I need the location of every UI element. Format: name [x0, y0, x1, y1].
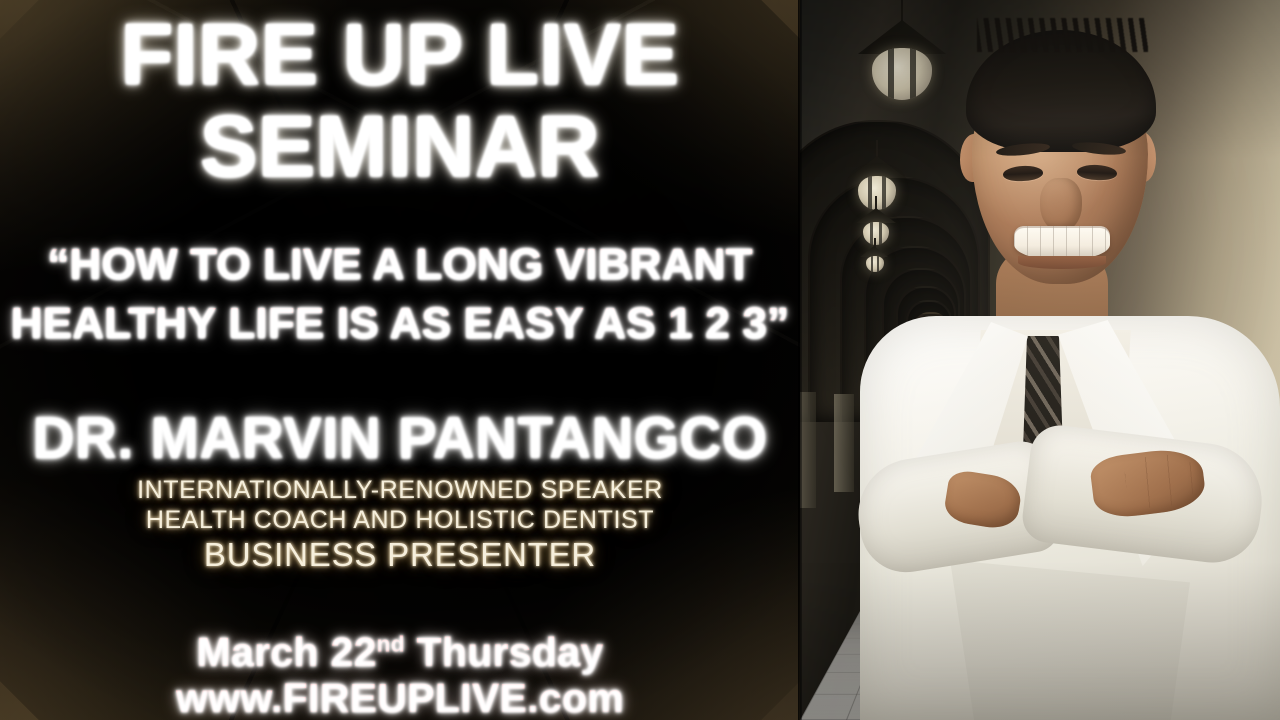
headline-line-2: SEMINAR	[0, 104, 800, 190]
seminar-poster: FIRE UP LIVE SEMINAR “HOW TO LIVE A LONG…	[0, 0, 1280, 720]
lower-lip	[1018, 256, 1106, 269]
headline-line-1: FIRE UP LIVE	[0, 12, 800, 98]
event-date-monthday: March 22	[197, 629, 377, 675]
event-date-weekday: Thursday	[405, 629, 604, 675]
lab-coat-fold	[950, 560, 1190, 720]
speaker-name: DR. MARVIN PANTANGCO	[0, 410, 800, 468]
speaker-credential-3: BUSINESS PRESENTER	[0, 538, 800, 571]
event-date: March 22nd Thursday	[0, 632, 800, 673]
website-url[interactable]: www.FIREUPLIVE.com	[0, 678, 800, 719]
panel-photo-divider	[798, 0, 802, 720]
speaker-credential-2: HEALTH COACH AND HOLISTIC DENTIST	[0, 508, 800, 533]
speaker-photo	[800, 0, 1280, 720]
man-figure	[800, 0, 1280, 720]
event-date-ordinal: nd	[377, 631, 405, 656]
poster-text-content: FIRE UP LIVE SEMINAR “HOW TO LIVE A LONG…	[0, 0, 800, 720]
quote-line-2: HEALTHY LIFE IS AS EASY AS 1 2 3”	[0, 302, 800, 346]
speaker-credential-1: INTERNATIONALLY-RENOWNED SPEAKER	[0, 478, 800, 503]
smile-teeth	[1014, 226, 1110, 260]
nose	[1040, 178, 1082, 232]
hair	[966, 30, 1156, 152]
quote-line-1: “HOW TO LIVE A LONG VIBRANT	[0, 243, 800, 287]
